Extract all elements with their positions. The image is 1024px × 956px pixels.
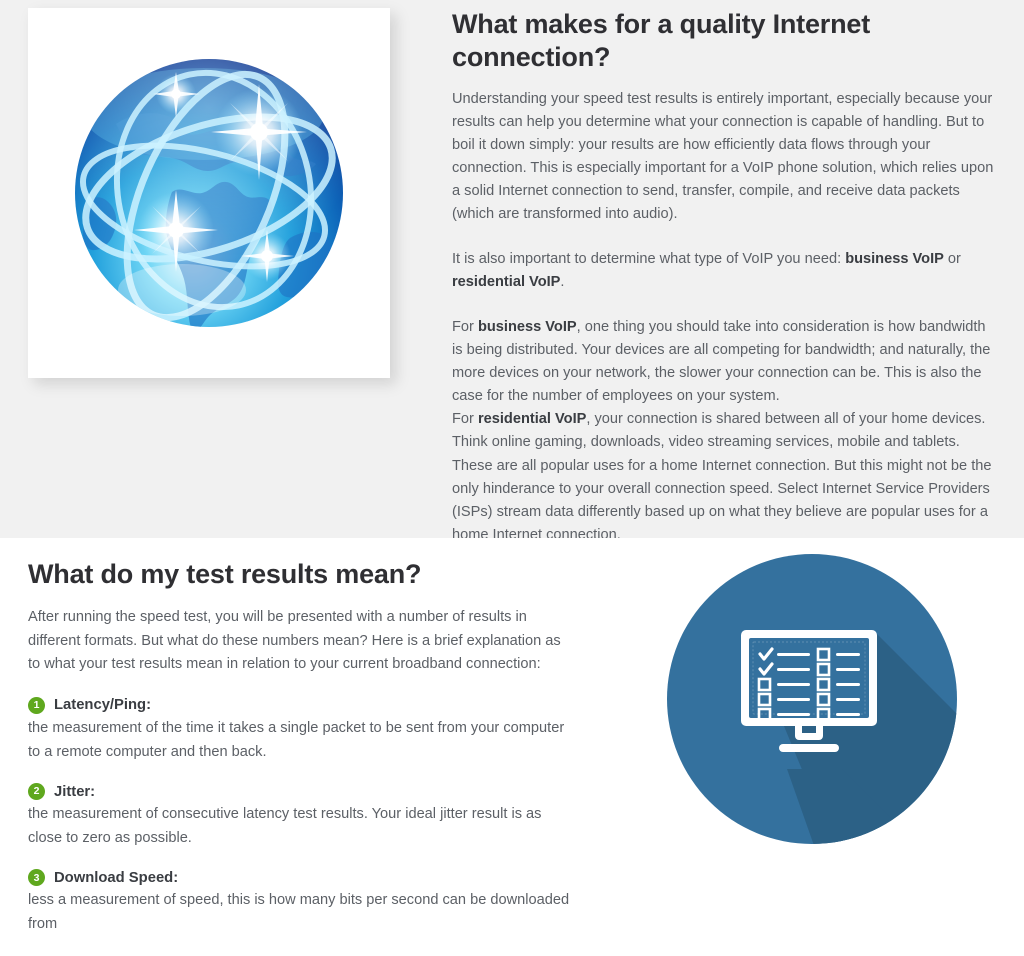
p2-bold-residential-voip: residential VoIP — [452, 274, 560, 290]
result-description: the measurement of consecutive latency t… — [28, 803, 570, 850]
results-text-column: What do my test results mean? After runn… — [0, 538, 600, 956]
results-icon-column — [600, 538, 1024, 844]
p3-lead: For — [452, 319, 478, 335]
result-description: less a measurement of speed, this is how… — [28, 889, 570, 936]
result-head: 2 Jitter: — [28, 783, 570, 800]
test-results-section: What do my test results mean? After runn… — [0, 538, 1024, 867]
number-badge-icon: 2 — [28, 783, 45, 800]
quality-text-column: What makes for a quality Internet connec… — [452, 0, 1024, 569]
quality-paragraph-4: For residential VoIP, your connection is… — [452, 408, 997, 546]
quality-connection-section: What makes for a quality Internet connec… — [0, 0, 1024, 538]
p2-lead: It is also important to determine what t… — [452, 251, 845, 267]
quality-section-title: What makes for a quality Internet connec… — [452, 8, 997, 74]
quality-paragraph-2: It is also important to determine what t… — [452, 248, 997, 294]
results-intro-paragraph: After running the speed test, you will b… — [28, 606, 570, 677]
globe-image-column — [0, 0, 452, 378]
number-badge-icon: 1 — [28, 697, 45, 714]
number-badge-icon: 3 — [28, 869, 45, 886]
result-description: the measurement of the time it takes a s… — [28, 717, 570, 764]
result-term: Latency/Ping: — [54, 697, 151, 713]
result-item-latency-ping: 1 Latency/Ping: the measurement of the t… — [28, 697, 570, 764]
p2-tail: . — [560, 274, 564, 290]
result-term: Download Speed: — [54, 870, 178, 886]
globe-network-illustration — [54, 38, 364, 348]
result-item-download-speed: 3 Download Speed: less a measurement of … — [28, 869, 570, 936]
result-term: Jitter: — [54, 784, 95, 800]
p3-bold-business-voip: business VoIP — [478, 319, 577, 335]
result-head: 1 Latency/Ping: — [28, 697, 570, 714]
monitor-base — [779, 744, 839, 752]
monitor-checklist-circle-icon — [667, 554, 957, 844]
globe-image-card — [28, 8, 390, 378]
p2-bold-business-voip: business VoIP — [845, 251, 944, 267]
p2-mid: or — [944, 251, 961, 267]
p4-lead: For — [452, 411, 478, 427]
quality-paragraph-1: Understanding your speed test results is… — [452, 88, 997, 226]
p4-tail: , your connection is shared between all … — [452, 411, 991, 542]
result-head: 3 Download Speed: — [28, 869, 570, 886]
quality-paragraph-3: For business VoIP, one thing you should … — [452, 316, 997, 408]
result-item-jitter: 2 Jitter: the measurement of consecutive… — [28, 783, 570, 850]
p4-bold-residential-voip: residential VoIP — [478, 411, 586, 427]
results-section-title: What do my test results mean? — [28, 559, 570, 590]
